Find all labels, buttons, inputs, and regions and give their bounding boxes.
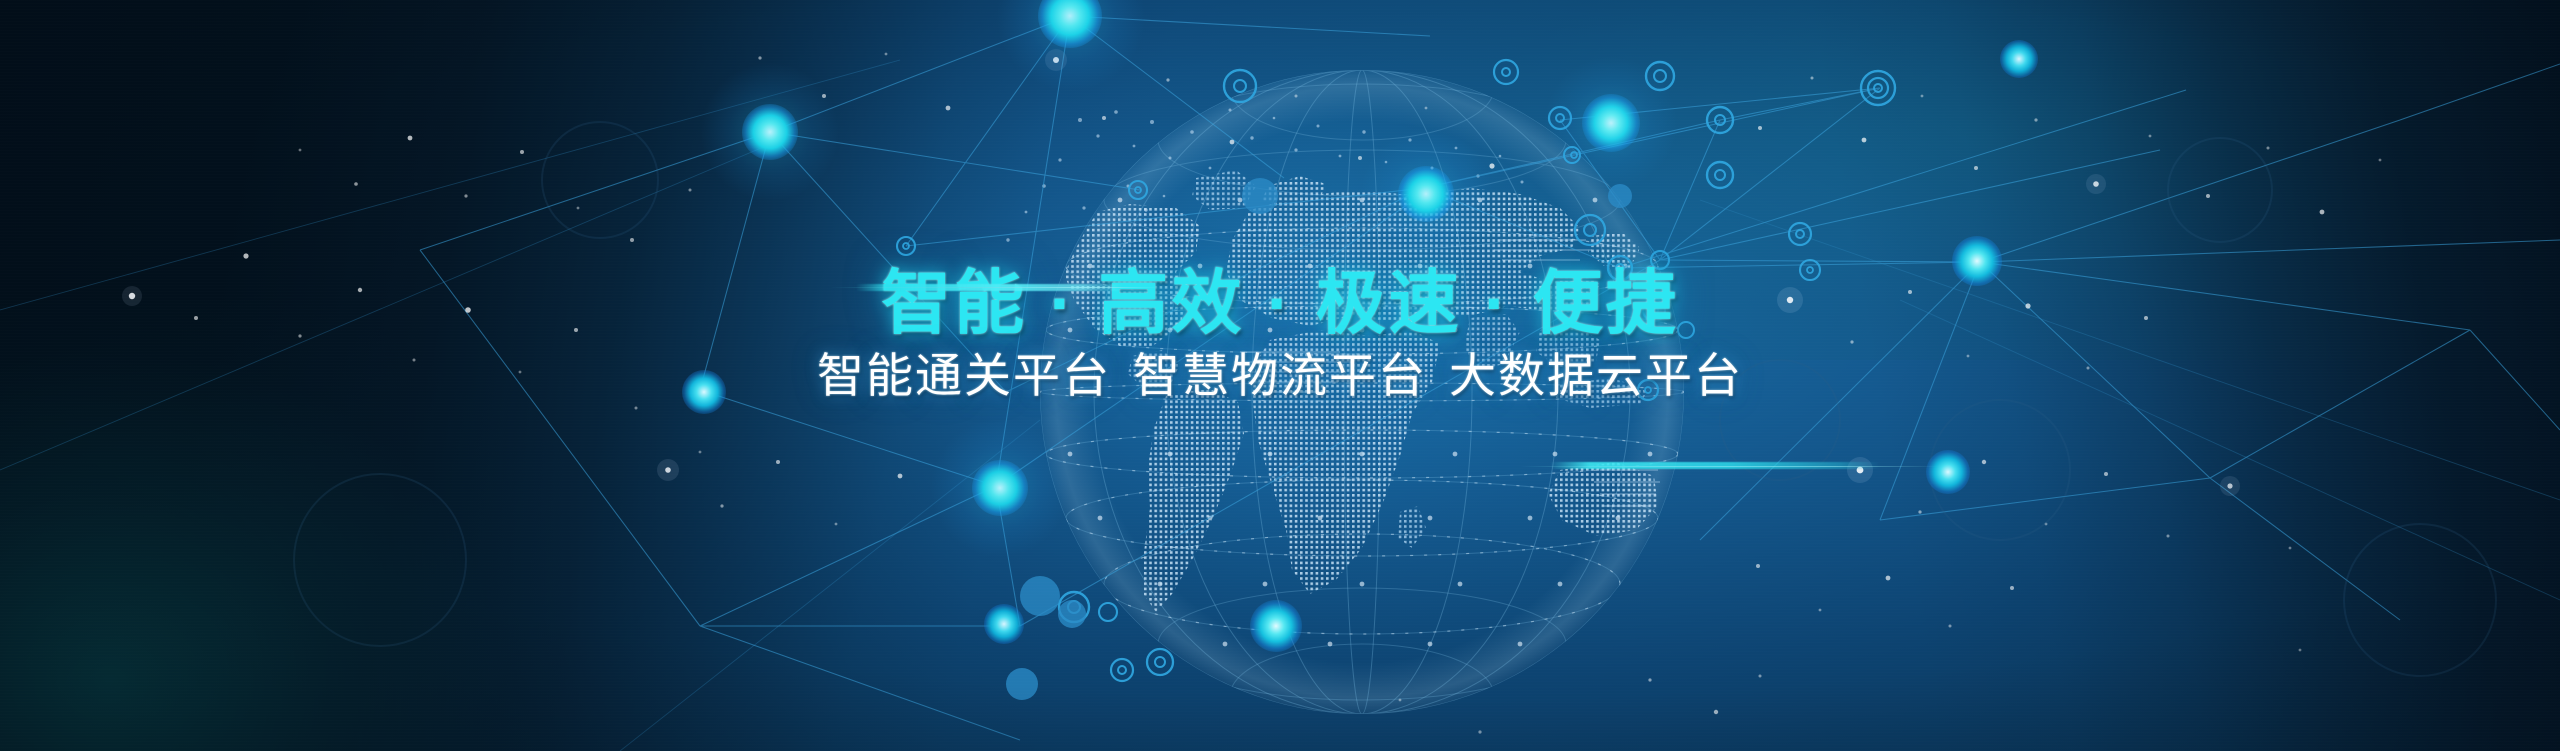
accent-line-bottom-hairline <box>1520 466 1940 467</box>
subtitle-platform-3: 大数据云平台 <box>1449 349 1743 402</box>
subtitle-platform-2: 智慧物流平台 <box>1133 349 1427 402</box>
hero-banner: 智能 · 高效 · 极速 · 便捷 智能通关平台智慧物流平台大数据云平台 <box>0 0 2560 751</box>
page-title: 智能 · 高效 · 极速 · 便捷 <box>0 268 2560 338</box>
accent-line-top-hairline <box>830 287 1160 288</box>
subtitle-platform-1: 智能通关平台 <box>817 349 1111 402</box>
page-subtitle: 智能通关平台智慧物流平台大数据云平台 <box>0 352 2560 399</box>
hero-text-block: 智能 · 高效 · 极速 · 便捷 智能通关平台智慧物流平台大数据云平台 <box>0 268 2560 399</box>
